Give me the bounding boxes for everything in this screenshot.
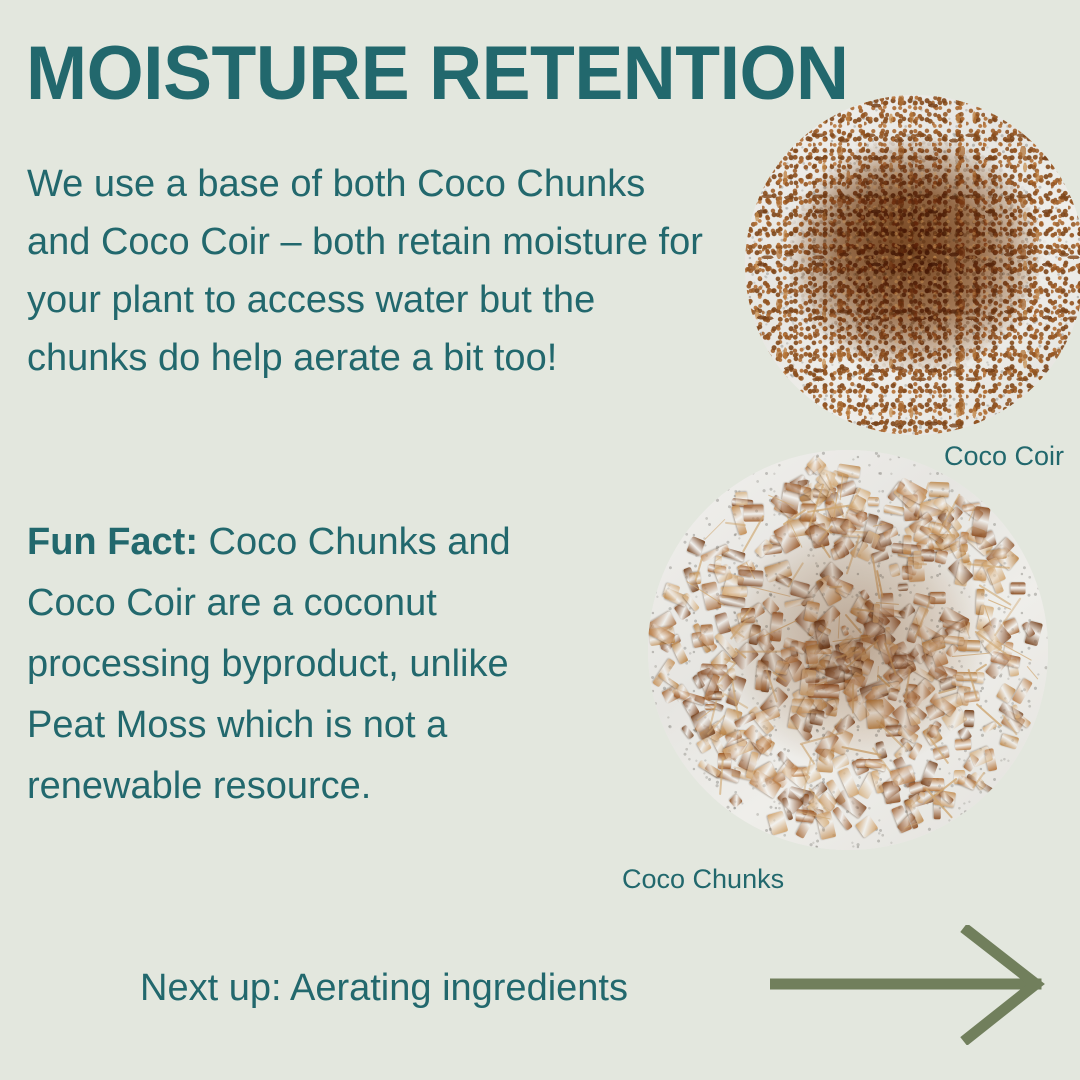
infographic-slide: MOISTURE RETENTION We use a base of both…: [0, 0, 1080, 1080]
coco-chunks-photo: [648, 450, 1048, 850]
chunk-mound-shading: [648, 450, 1048, 850]
coir-mound-texture: [745, 95, 1080, 435]
fun-fact-label: Fun Fact:: [27, 521, 198, 563]
page-title: MOISTURE RETENTION: [26, 36, 849, 112]
fun-fact-text: Coco Chunks and Coco Coir are a coconut …: [27, 521, 511, 807]
coco-coir-photo: [745, 95, 1080, 435]
arrow-right-icon[interactable]: [770, 925, 1060, 1045]
caption-coco-coir: Coco Coir: [944, 441, 1064, 471]
intro-paragraph: We use a base of both Coco Chunks and Co…: [27, 155, 717, 387]
caption-coco-chunks: Coco Chunks: [622, 864, 784, 894]
next-up-label: Next up: Aerating ingredients: [140, 965, 628, 1011]
fun-fact-paragraph: Fun Fact: Coco Chunks and Coco Coir are …: [27, 512, 557, 817]
